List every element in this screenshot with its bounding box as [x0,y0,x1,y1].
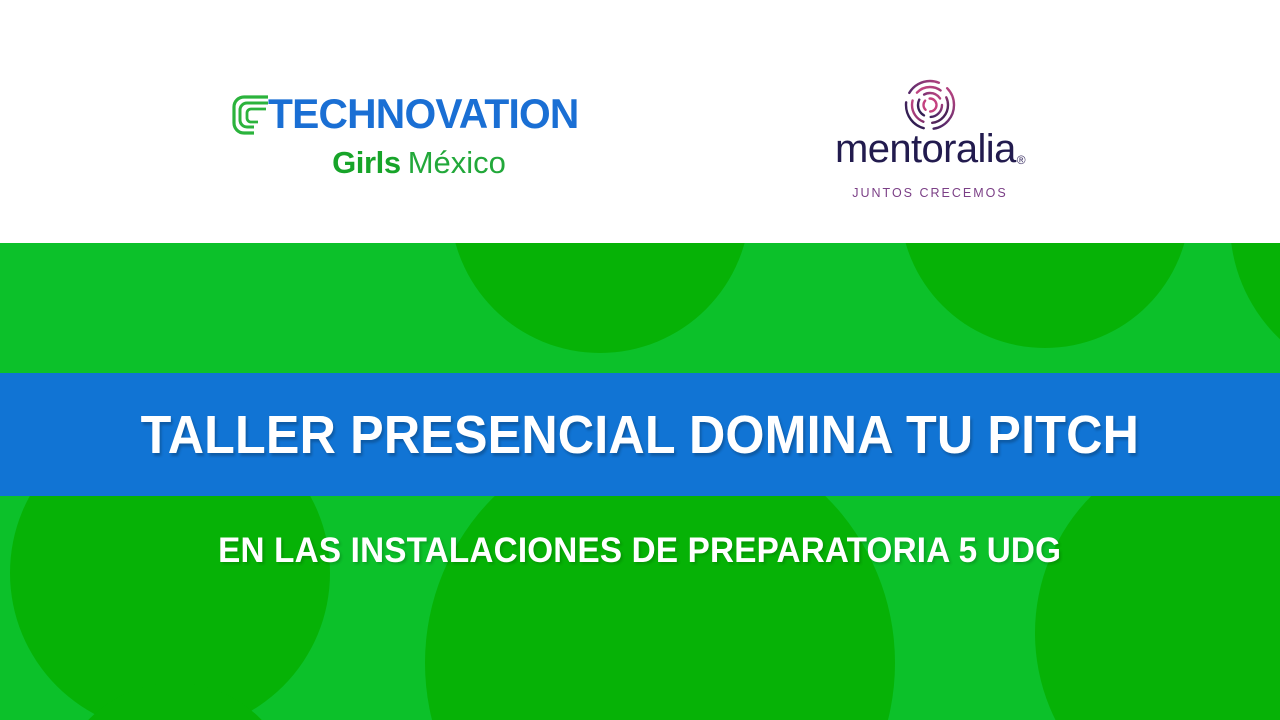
mentoralia-wordmark: mentoralia [835,127,1016,171]
technovation-wordmark-row: TECHNOVATION [232,92,582,140]
mentoralia-tagline: JUNTOS CRECEMOS [852,186,1007,200]
mentoralia-wordmark-row: mentoralia® [835,128,1025,181]
headline-banner: TALLER PRESENCIAL DOMINA TU PITCH [0,373,1280,496]
mentoralia-logo: mentoralia® JUNTOS CRECEMOS [810,78,1050,186]
technovation-mexico-label: México [408,146,506,180]
logo-header-band: TECHNOVATION Girls México [0,0,1280,243]
page-title: TALLER PRESENCIAL DOMINA TU PITCH [141,406,1139,464]
poster-canvas: TECHNOVATION Girls México [0,0,1280,720]
technovation-wordmark: TECHNOVATION [268,92,579,136]
mentoralia-concentric-circles-mark-icon [903,78,957,132]
technovation-sub-row: Girls México [256,146,582,180]
subheadline-row: EN LAS INSTALACIONES DE PREPARATORIA 5 U… [0,521,1280,581]
page-subtitle: EN LAS INSTALACIONES DE PREPARATORIA 5 U… [218,531,1061,571]
technovation-spiral-mark-icon [232,93,272,137]
mentoralia-registered-symbol: ® [1017,153,1025,167]
technovation-girls-label: Girls [332,146,401,180]
technovation-girls-mexico-logo: TECHNOVATION Girls México [232,92,582,192]
